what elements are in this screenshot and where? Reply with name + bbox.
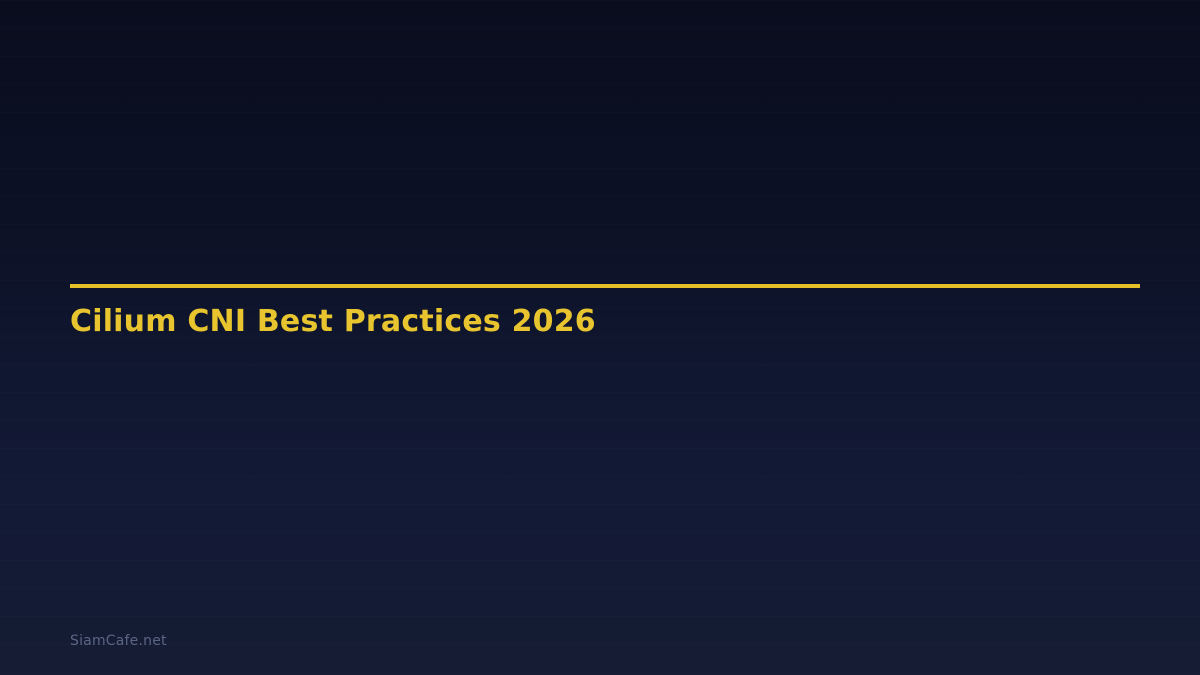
presentation-slide: Cilium CNI Best Practices 2026 SiamCafe.… bbox=[0, 0, 1200, 675]
title-block: Cilium CNI Best Practices 2026 bbox=[70, 284, 1140, 337]
page-title: Cilium CNI Best Practices 2026 bbox=[70, 288, 1140, 337]
slide-footer: SiamCafe.net bbox=[70, 630, 167, 649]
footer-brand-label: SiamCafe.net bbox=[70, 633, 167, 649]
